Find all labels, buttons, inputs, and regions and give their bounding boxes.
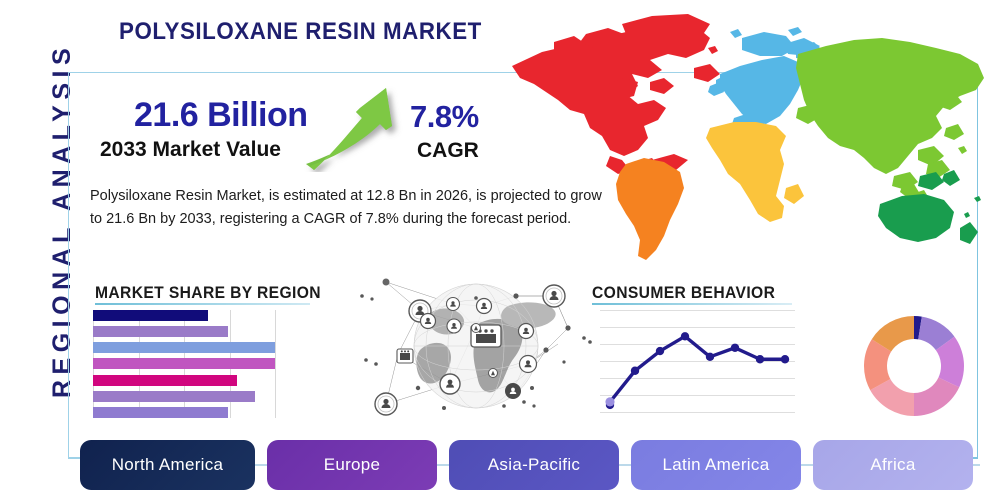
regional-distribution-donut-chart — [858, 310, 970, 422]
tab-connector-end — [973, 464, 980, 466]
region-tab-africa[interactable]: Africa — [813, 440, 973, 490]
growth-arrow-icon — [300, 82, 410, 172]
global-network-illustration — [358, 266, 593, 428]
infographic-root: REGIONAL ANALYSIS POLYSILOXANE RESIN MAR… — [0, 0, 1000, 500]
bar-chart-bar — [93, 310, 208, 321]
bar-chart-row — [93, 391, 275, 402]
consumer-behavior-rule — [592, 303, 792, 305]
region-tab-europe[interactable]: Europe — [267, 440, 437, 490]
line-chart-point — [781, 355, 789, 363]
bar-chart-row — [93, 407, 275, 418]
tab-connector — [437, 464, 449, 466]
bar-chart-row — [93, 358, 275, 369]
region-tab-label: Europe — [324, 455, 381, 475]
tab-connector — [255, 464, 267, 466]
region-tabs[interactable]: North AmericaEuropeAsia-PacificLatin Ame… — [80, 440, 980, 490]
map-region-africa — [706, 122, 804, 222]
region-tab-label: North America — [112, 455, 224, 475]
market-value-figure: 21.6 Billion — [134, 96, 308, 135]
cagr-figure: 7.8% — [410, 99, 479, 135]
market-share-by-region-bar-chart — [93, 310, 275, 418]
market-share-heading: MARKET SHARE BY REGION — [95, 283, 321, 303]
region-tab-label: Africa — [870, 455, 915, 475]
consumer-behavior-heading: CONSUMER BEHAVIOR — [592, 283, 775, 303]
bar-chart-bar — [93, 407, 228, 418]
region-tab-latin-america[interactable]: Latin America — [631, 440, 801, 490]
bar-chart-bar — [93, 326, 228, 337]
bar-chart-bar — [93, 375, 237, 386]
region-tab-label: Latin America — [663, 455, 770, 475]
cagr-label: CAGR — [417, 139, 479, 163]
line-chart-point — [731, 344, 739, 352]
bar-chart-row — [93, 310, 275, 321]
bar-chart-row — [93, 342, 275, 353]
page-title: POLYSILOXANE RESIN MARKET — [119, 18, 482, 46]
region-tab-label: Asia-Pacific — [488, 455, 580, 475]
world-map — [498, 8, 998, 270]
line-chart-point — [631, 367, 639, 375]
line-chart-point — [706, 353, 714, 361]
bar-gridline — [275, 310, 276, 418]
bar-chart-row — [93, 326, 275, 337]
region-tab-asia-pacific[interactable]: Asia-Pacific — [449, 440, 619, 490]
consumer-behavior-line-chart — [600, 310, 795, 418]
tab-connector — [619, 464, 631, 466]
market-share-rule — [95, 303, 310, 305]
line-chart-point — [605, 397, 614, 406]
tab-connector — [801, 464, 813, 466]
region-tab-north-america[interactable]: North America — [80, 440, 255, 490]
bar-chart-bar — [93, 358, 275, 369]
map-region-south-america — [616, 158, 684, 260]
line-chart-point — [656, 347, 664, 355]
line-chart-series — [600, 310, 795, 418]
line-chart-point — [681, 332, 689, 340]
bar-chart-bar — [93, 391, 255, 402]
bar-chart-bar — [93, 342, 275, 353]
map-region-north-america — [512, 14, 720, 176]
bar-chart-bars — [93, 310, 275, 418]
line-chart-point — [756, 355, 764, 363]
bar-chart-row — [93, 375, 275, 386]
market-value-label: 2033 Market Value — [100, 138, 281, 162]
